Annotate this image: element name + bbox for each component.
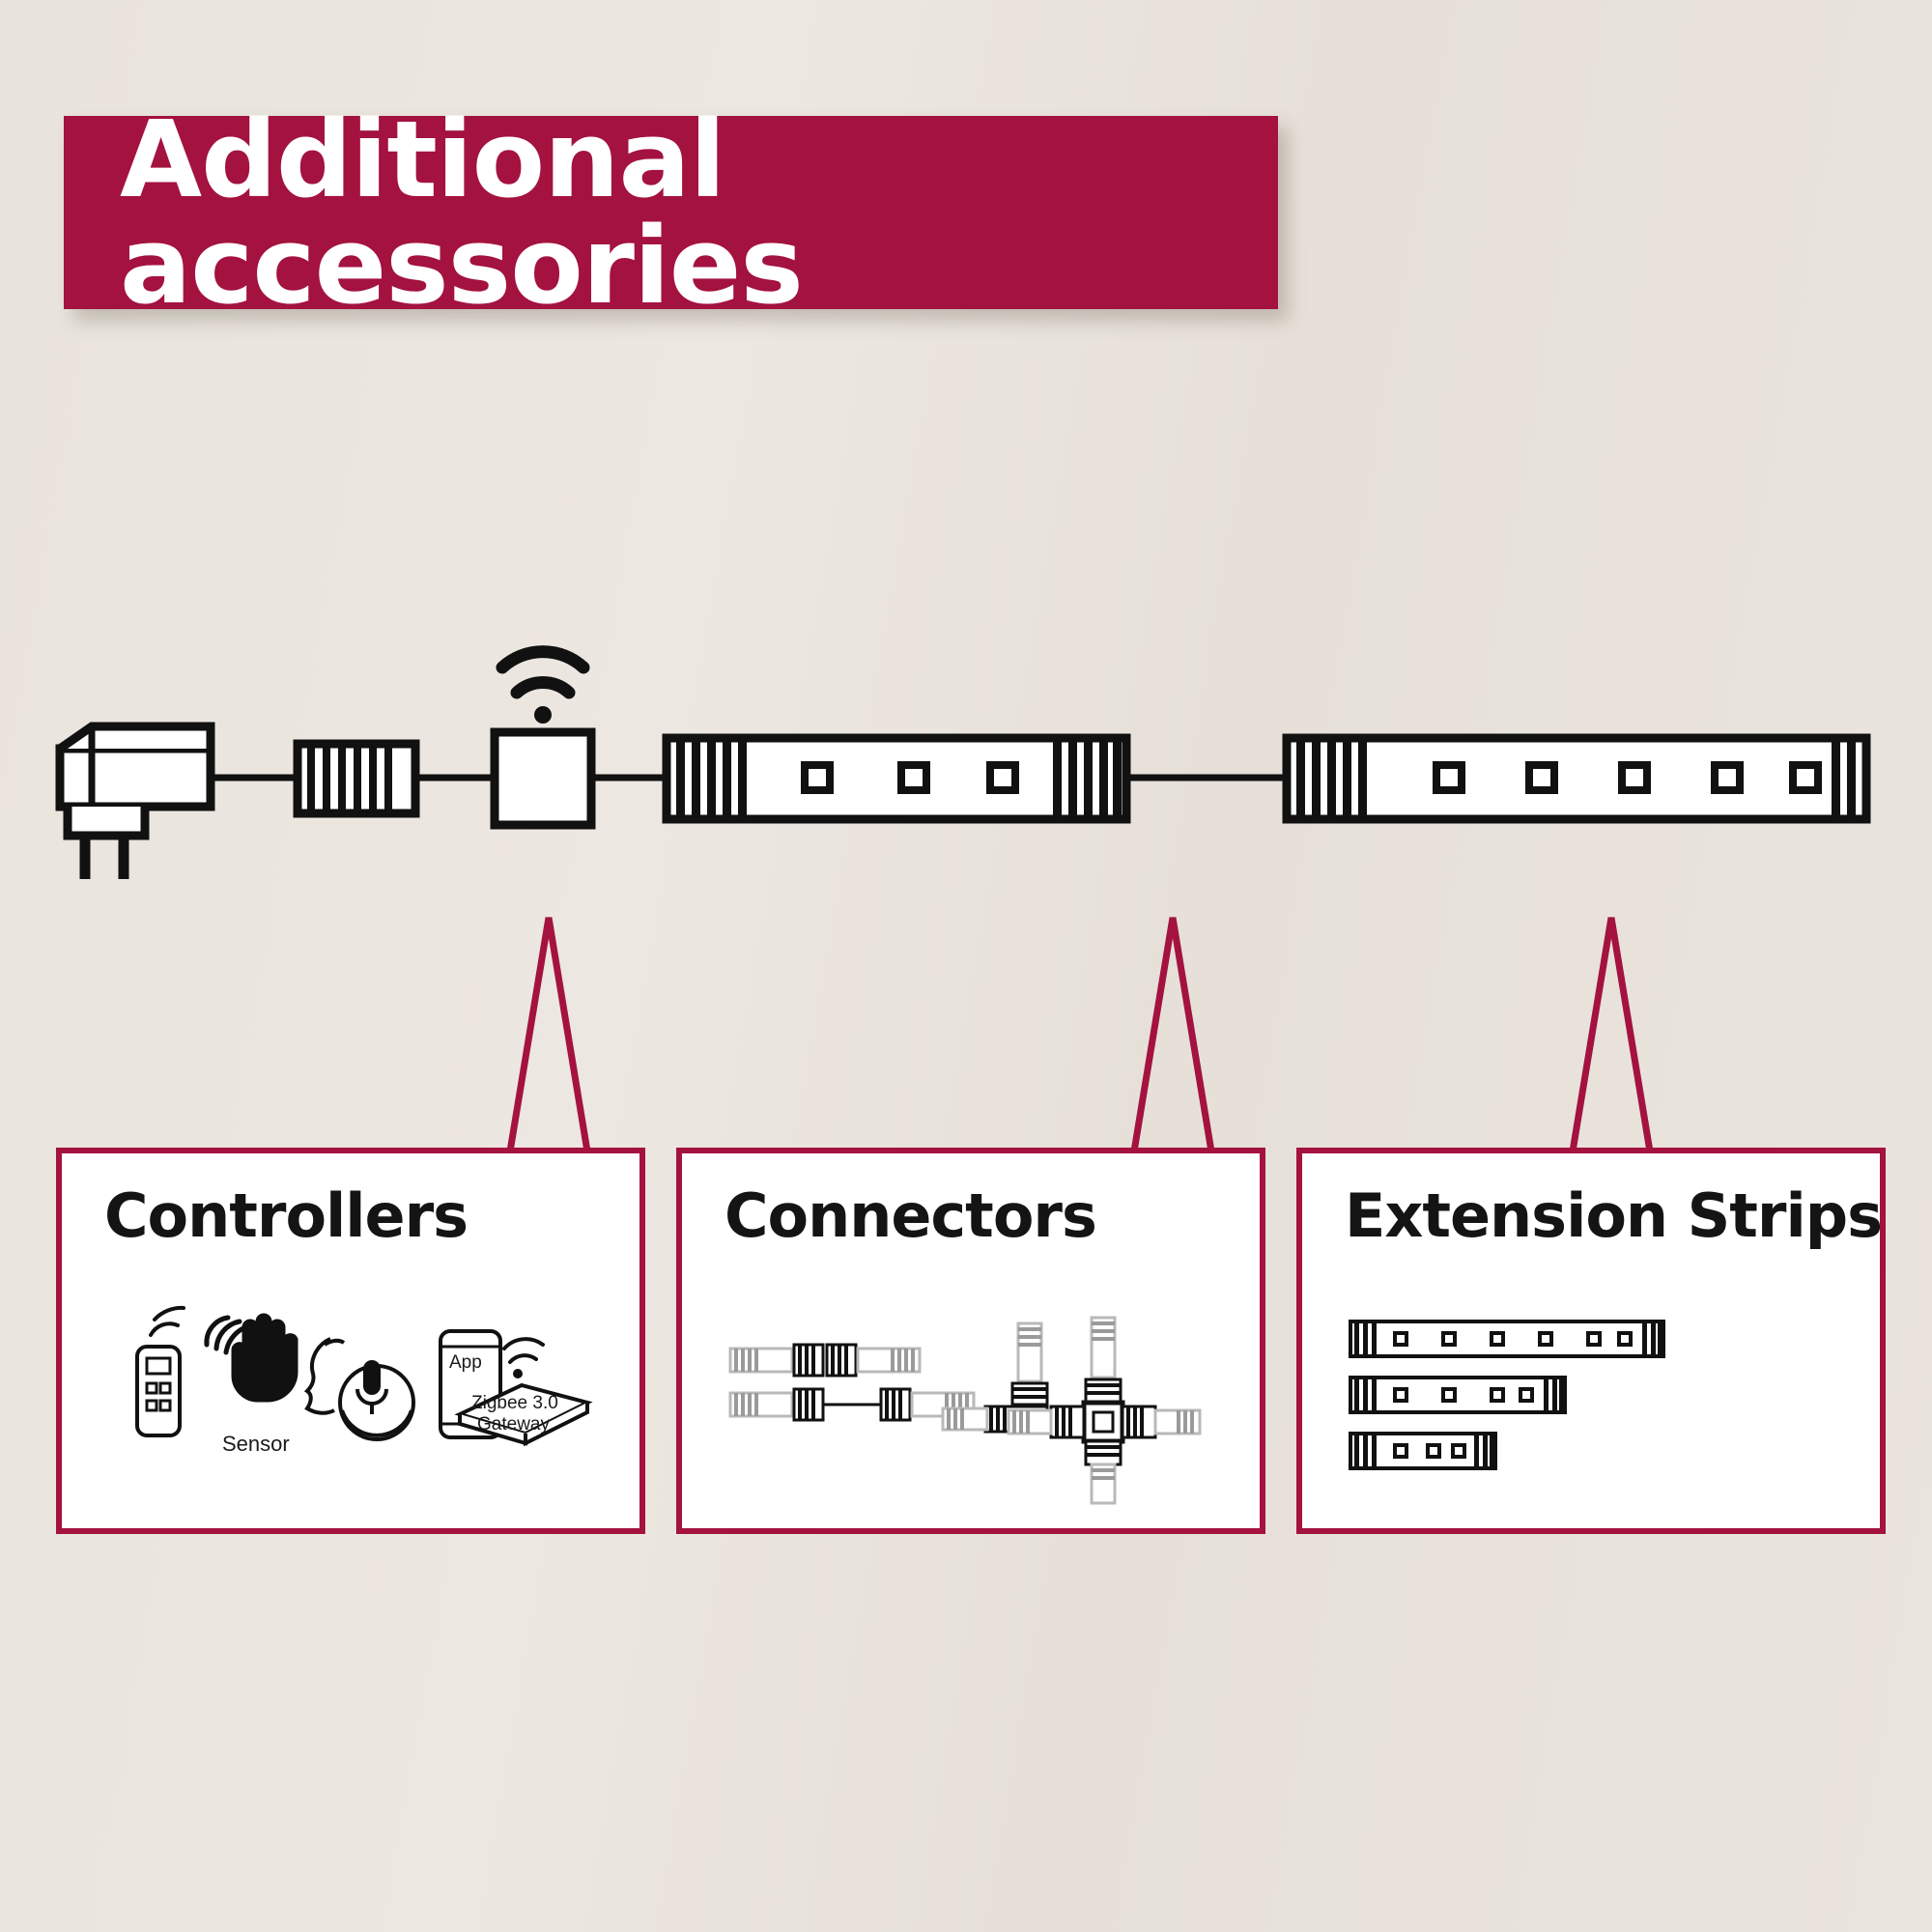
remote-control-icon [137,1308,184,1435]
controllers-icon-row: Sensor App [81,1289,641,1511]
extension-strips-icon-group [1321,1308,1882,1501]
led-strip-segment-1 [667,738,1126,819]
title-banner: Additional accessories [64,116,1278,309]
card-connectors-title: Connectors [724,1180,1096,1251]
sensor-label: Sensor [222,1432,290,1456]
zigbee-version-label: Zigbee 3.0 [471,1393,558,1413]
led-system-chain-diagram [0,638,1932,927]
gateway-wifi-icon [504,1339,543,1378]
card-controllers-title: Controllers [104,1180,468,1251]
gateway-label: Gateway [477,1414,550,1435]
card-controllers[interactable]: Controllers [56,1148,645,1534]
extension-strip-medium-icon [1350,1378,1565,1412]
callout-pointers [0,898,1932,1159]
wifi-icon [502,652,583,724]
motion-sensor-icon [207,1315,297,1401]
card-connectors[interactable]: Connectors [676,1148,1265,1534]
voice-assistant-icon [307,1339,413,1439]
extension-strip-short-icon [1350,1434,1495,1468]
power-supply-plug [60,726,211,879]
inline-connector-1 [298,744,415,813]
poster-stage: Additional accessories [0,0,1932,1932]
app-label: App [449,1352,482,1373]
strip-to-strip-connector-icon [730,1345,974,1420]
led-strip-segment-2 [1287,738,1866,819]
wireless-controller-box [495,732,591,825]
extension-strip-long-icon [1350,1321,1663,1356]
card-extensions[interactable]: Extension Strips [1296,1148,1886,1534]
connectors-icon-row [701,1298,1262,1511]
page-title: Additional accessories [64,106,1278,319]
card-extensions-title: Extension Strips [1345,1180,1882,1251]
